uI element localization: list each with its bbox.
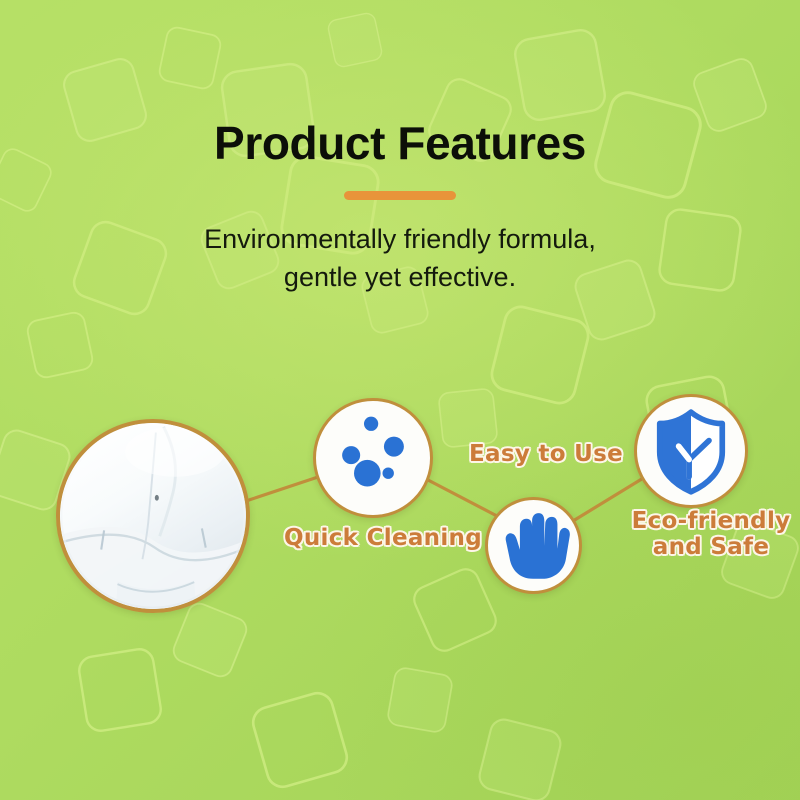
product-photo-icon: [60, 423, 246, 609]
feature-node-quick-cleaning[interactable]: [313, 398, 433, 518]
feature-label-easy-to-use: Easy to Use: [456, 442, 636, 468]
open-hand-icon: [488, 497, 579, 594]
connector-photo-to-drops: [249, 477, 318, 500]
feature-node-easy-to-use[interactable]: [485, 497, 582, 594]
water-droplets-icon: [316, 398, 430, 518]
shield-leaf-icon: [637, 394, 745, 508]
feature-node-product-photo[interactable]: [56, 419, 250, 613]
feature-label-eco-friendly: Eco-friendly and Safe: [616, 509, 800, 561]
product-features-poster: Product Features Environmentally friendl…: [0, 0, 800, 800]
feature-label-quick-cleaning: Quick Cleaning: [268, 526, 498, 552]
feature-label-eco-line-1: Eco-friendly: [616, 509, 800, 535]
feature-label-eco-line-2: and Safe: [616, 535, 800, 561]
feature-node-eco-friendly[interactable]: [634, 394, 748, 508]
connector-drops-to-hand: [428, 480, 497, 516]
